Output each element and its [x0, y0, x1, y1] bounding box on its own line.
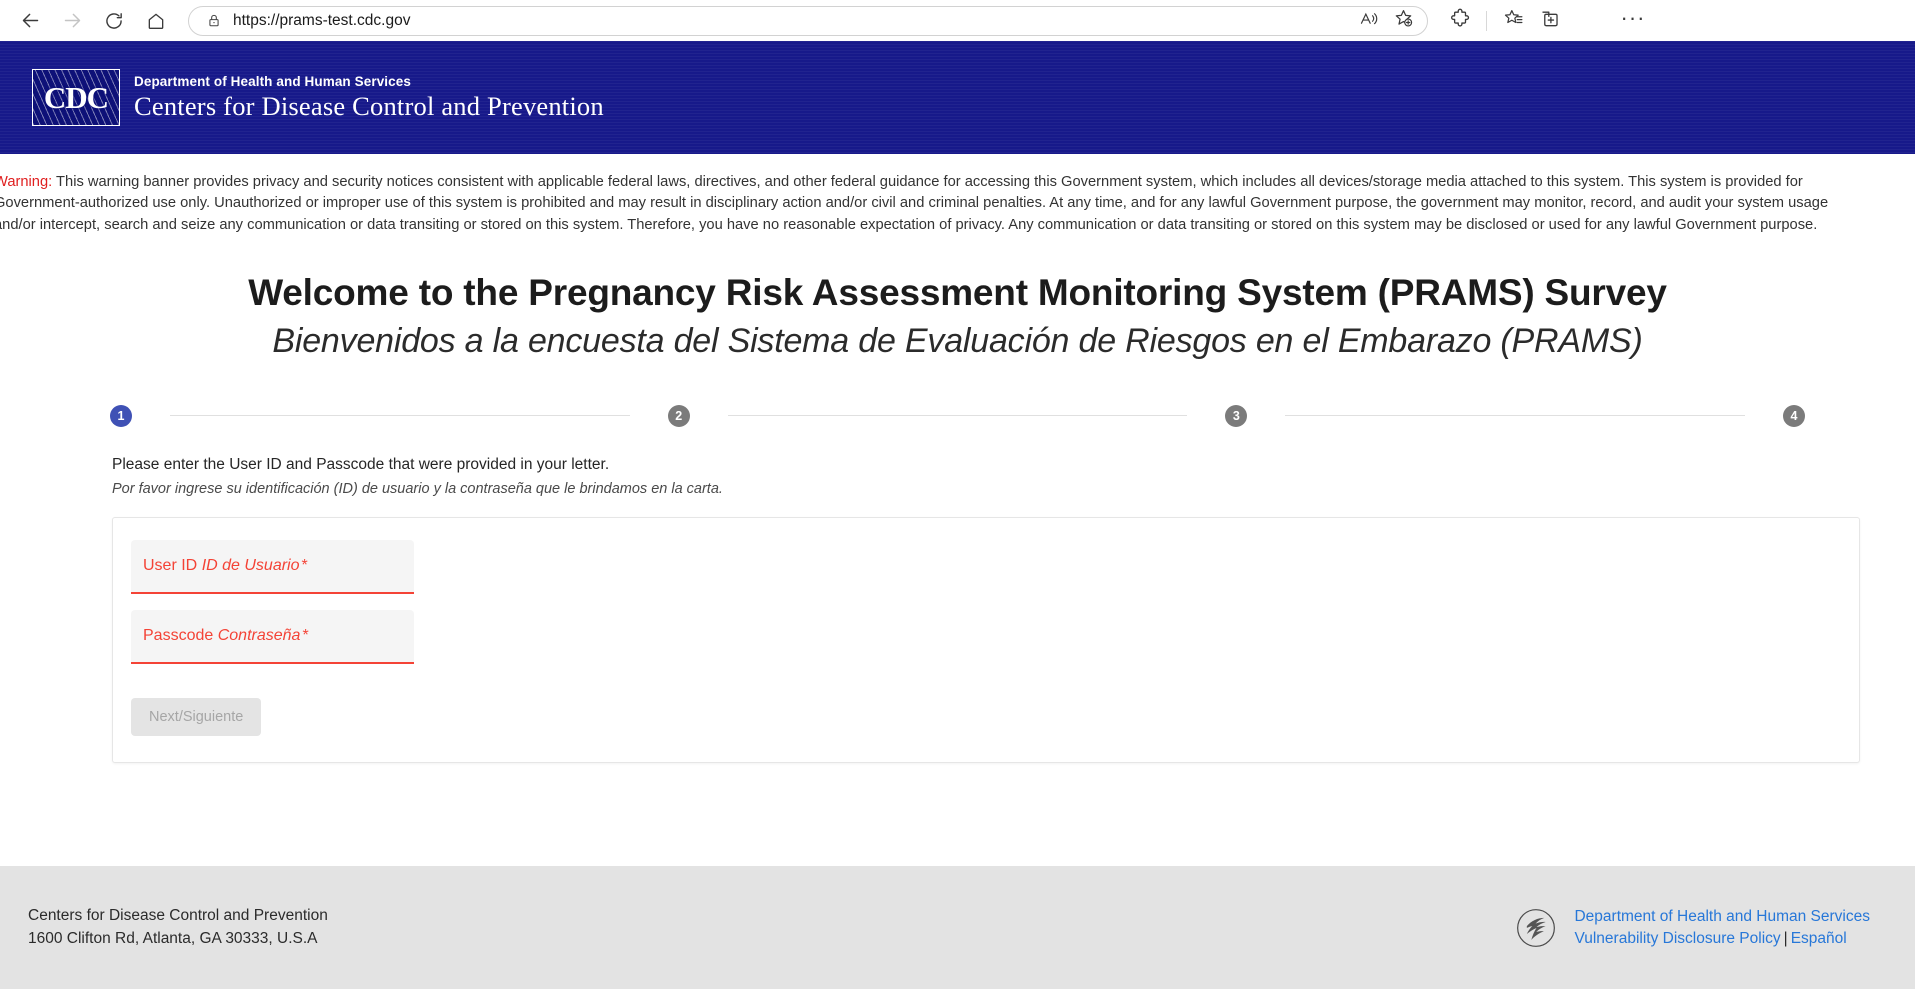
instruction-spanish: Por favor ingrese su identificación (ID)…: [112, 479, 1915, 501]
cdc-logo[interactable]: CDC: [32, 69, 120, 126]
footer-org: Centers for Disease Control and Preventi…: [28, 905, 328, 927]
instruction-english: Please enter the User ID and Passcode th…: [112, 453, 1915, 476]
user-id-input[interactable]: User ID ID de Usuario*: [131, 540, 414, 594]
progress-stepper: 1 2 3 4: [110, 405, 1805, 427]
forward-button: [52, 4, 92, 38]
lock-icon: [203, 13, 225, 28]
passcode-input[interactable]: Passcode Contraseña*: [131, 610, 414, 664]
browser-toolbar: https://prams-test.cdc.gov: [0, 0, 1915, 41]
step-connector-3: [1285, 415, 1745, 416]
footer-link-vulnerability-disclosure[interactable]: Vulnerability Disclosure Policy: [1574, 930, 1780, 947]
cdc-agency-line: Centers for Disease Control and Preventi…: [134, 91, 604, 121]
cdc-logo-text: CDC: [33, 70, 119, 125]
footer-address-block: Centers for Disease Control and Preventi…: [28, 905, 328, 950]
profile-button[interactable]: [1569, 7, 1613, 35]
warning-line-2: Government-authorized use only. Unauthor…: [0, 193, 1915, 214]
footer-links: Department of Health and Human Services …: [1574, 906, 1870, 950]
forward-arrow-icon: [62, 10, 83, 31]
read-aloud-icon: [1359, 9, 1379, 33]
form-instructions: Please enter the User ID and Passcode th…: [112, 453, 1915, 501]
next-button[interactable]: Next/Siguiente: [131, 698, 261, 736]
hhs-eagle-icon: [1514, 906, 1558, 950]
footer-link-espanol[interactable]: Español: [1791, 930, 1847, 947]
cdc-header-titles: Department of Health and Human Services …: [134, 74, 604, 122]
cdc-site-header: CDC Department of Health and Human Servi…: [0, 41, 1915, 154]
page-title: Welcome to the Pregnancy Risk Assessment…: [0, 270, 1915, 316]
more-options-button[interactable]: ···: [1617, 7, 1649, 35]
add-favorite-icon: [1393, 8, 1414, 33]
more-options-icon: ···: [1621, 13, 1646, 29]
page-headings: Welcome to the Pregnancy Risk Assessment…: [0, 244, 1915, 363]
collections-icon: [1539, 8, 1560, 34]
footer-link-hhs[interactable]: Department of Health and Human Services: [1574, 908, 1870, 925]
warning-line-1: Warning: This warning banner provides pr…: [0, 172, 1915, 193]
user-id-required-marker: *: [302, 557, 308, 574]
user-id-field-group: User ID ID de Usuario*: [131, 540, 414, 594]
cdc-department-line: Department of Health and Human Services: [134, 74, 604, 90]
home-button[interactable]: [136, 4, 176, 38]
passcode-required-marker: *: [302, 627, 308, 644]
warning-text-1: This warning banner provides privacy and…: [52, 174, 1803, 190]
main-content: Welcome to the Pregnancy Risk Assessment…: [0, 244, 1915, 763]
passcode-label: Passcode Contraseña*: [143, 627, 309, 645]
passcode-field-group: Passcode Contraseña*: [131, 610, 414, 664]
footer-link-divider: |: [1784, 930, 1788, 947]
user-id-label-en: User ID: [143, 557, 197, 574]
address-bar[interactable]: https://prams-test.cdc.gov: [188, 6, 1428, 36]
page-subtitle: Bienvenidos a la encuesta del Sistema de…: [0, 320, 1915, 363]
collections-button[interactable]: [1533, 7, 1565, 35]
extensions-icon: [1450, 8, 1471, 34]
passcode-label-en: Passcode: [143, 627, 213, 644]
step-connector-1: [170, 415, 630, 416]
page-footer: Centers for Disease Control and Preventi…: [0, 866, 1915, 989]
favorites-button[interactable]: [1497, 7, 1529, 35]
back-arrow-icon: [20, 10, 41, 31]
step-connector-2: [728, 415, 1188, 416]
warning-line-3: and/or intercept, search and seize any c…: [0, 215, 1915, 236]
warning-label: Warning:: [0, 174, 52, 190]
reload-button[interactable]: [94, 4, 134, 38]
footer-links-block: Department of Health and Human Services …: [1514, 906, 1870, 950]
back-button[interactable]: [10, 4, 50, 38]
url-text[interactable]: https://prams-test.cdc.gov: [233, 12, 1353, 30]
browser-actions: ···: [1444, 7, 1649, 35]
footer-address: 1600 Clifton Rd, Atlanta, GA 30333, U.S.…: [28, 928, 328, 950]
favorites-list-icon: [1503, 8, 1524, 33]
home-icon: [146, 11, 166, 31]
add-favorite-button[interactable]: [1387, 7, 1419, 35]
user-id-label: User ID ID de Usuario*: [143, 557, 308, 575]
toolbar-separator: [1486, 11, 1487, 31]
step-indicator-4[interactable]: 4: [1783, 405, 1805, 427]
login-form-card: User ID ID de Usuario* Passcode Contrase…: [112, 517, 1860, 763]
warning-banner: Warning: This warning banner provides pr…: [0, 154, 1915, 244]
passcode-label-es: Contraseña: [218, 627, 301, 644]
step-indicator-1[interactable]: 1: [110, 405, 132, 427]
read-aloud-button[interactable]: [1353, 7, 1385, 35]
step-indicator-2[interactable]: 2: [668, 405, 690, 427]
user-id-label-es: ID de Usuario: [202, 557, 300, 574]
extensions-button[interactable]: [1444, 7, 1476, 35]
reload-icon: [104, 11, 124, 31]
step-indicator-3[interactable]: 3: [1225, 405, 1247, 427]
